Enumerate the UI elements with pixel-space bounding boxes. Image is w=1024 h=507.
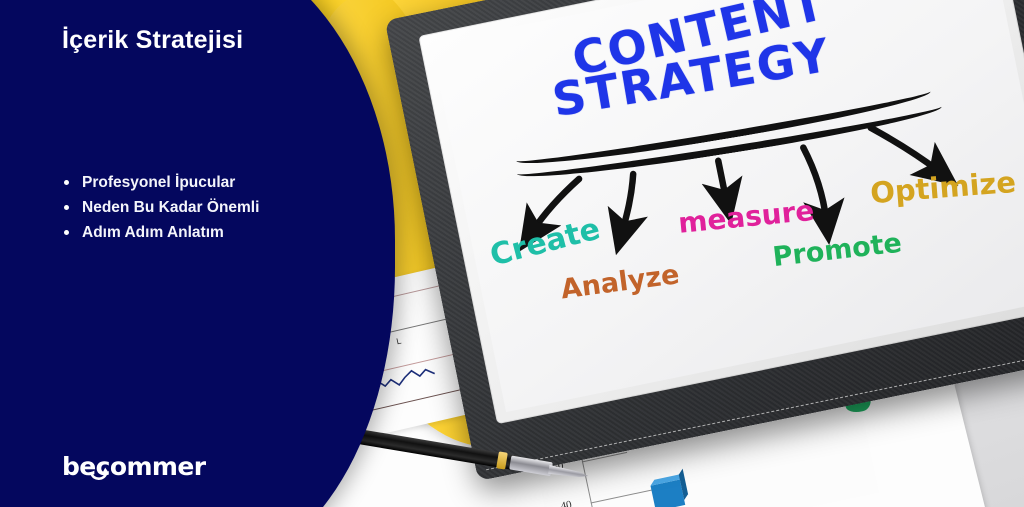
blue-info-panel: İçerik Stratejisi Profesyonel İpucular N…	[0, 0, 395, 507]
feature-bullet-list: Profesyonel İpucular Neden Bu Kadar Önem…	[62, 170, 365, 245]
pen-tip	[548, 465, 589, 480]
logo-text: becommer	[62, 452, 205, 481]
pen-grip	[509, 456, 553, 477]
list-item: Adım Adım Anlatım	[62, 220, 365, 245]
becommer-logo[interactable]: becommer	[62, 452, 205, 481]
page-title: İçerik Stratejisi	[62, 26, 365, 55]
panel-content: İçerik Stratejisi Profesyonel İpucular N…	[0, 0, 395, 507]
bar-chart-tick: 40	[560, 499, 573, 507]
list-item: Profesyonel İpucular	[62, 170, 365, 195]
bar-chart-bar	[650, 479, 685, 507]
content-strategy-banner: 4.0% 4.7% 7.4% NA 10.10% 3.5% 7.0% 16.8%…	[0, 0, 1024, 507]
bar-chart-gridline	[591, 488, 658, 503]
arrow-to-analyze-icon	[612, 174, 644, 231]
list-item: Neden Bu Kadar Önemli	[62, 195, 365, 220]
arrow-to-measure-icon	[718, 161, 726, 200]
